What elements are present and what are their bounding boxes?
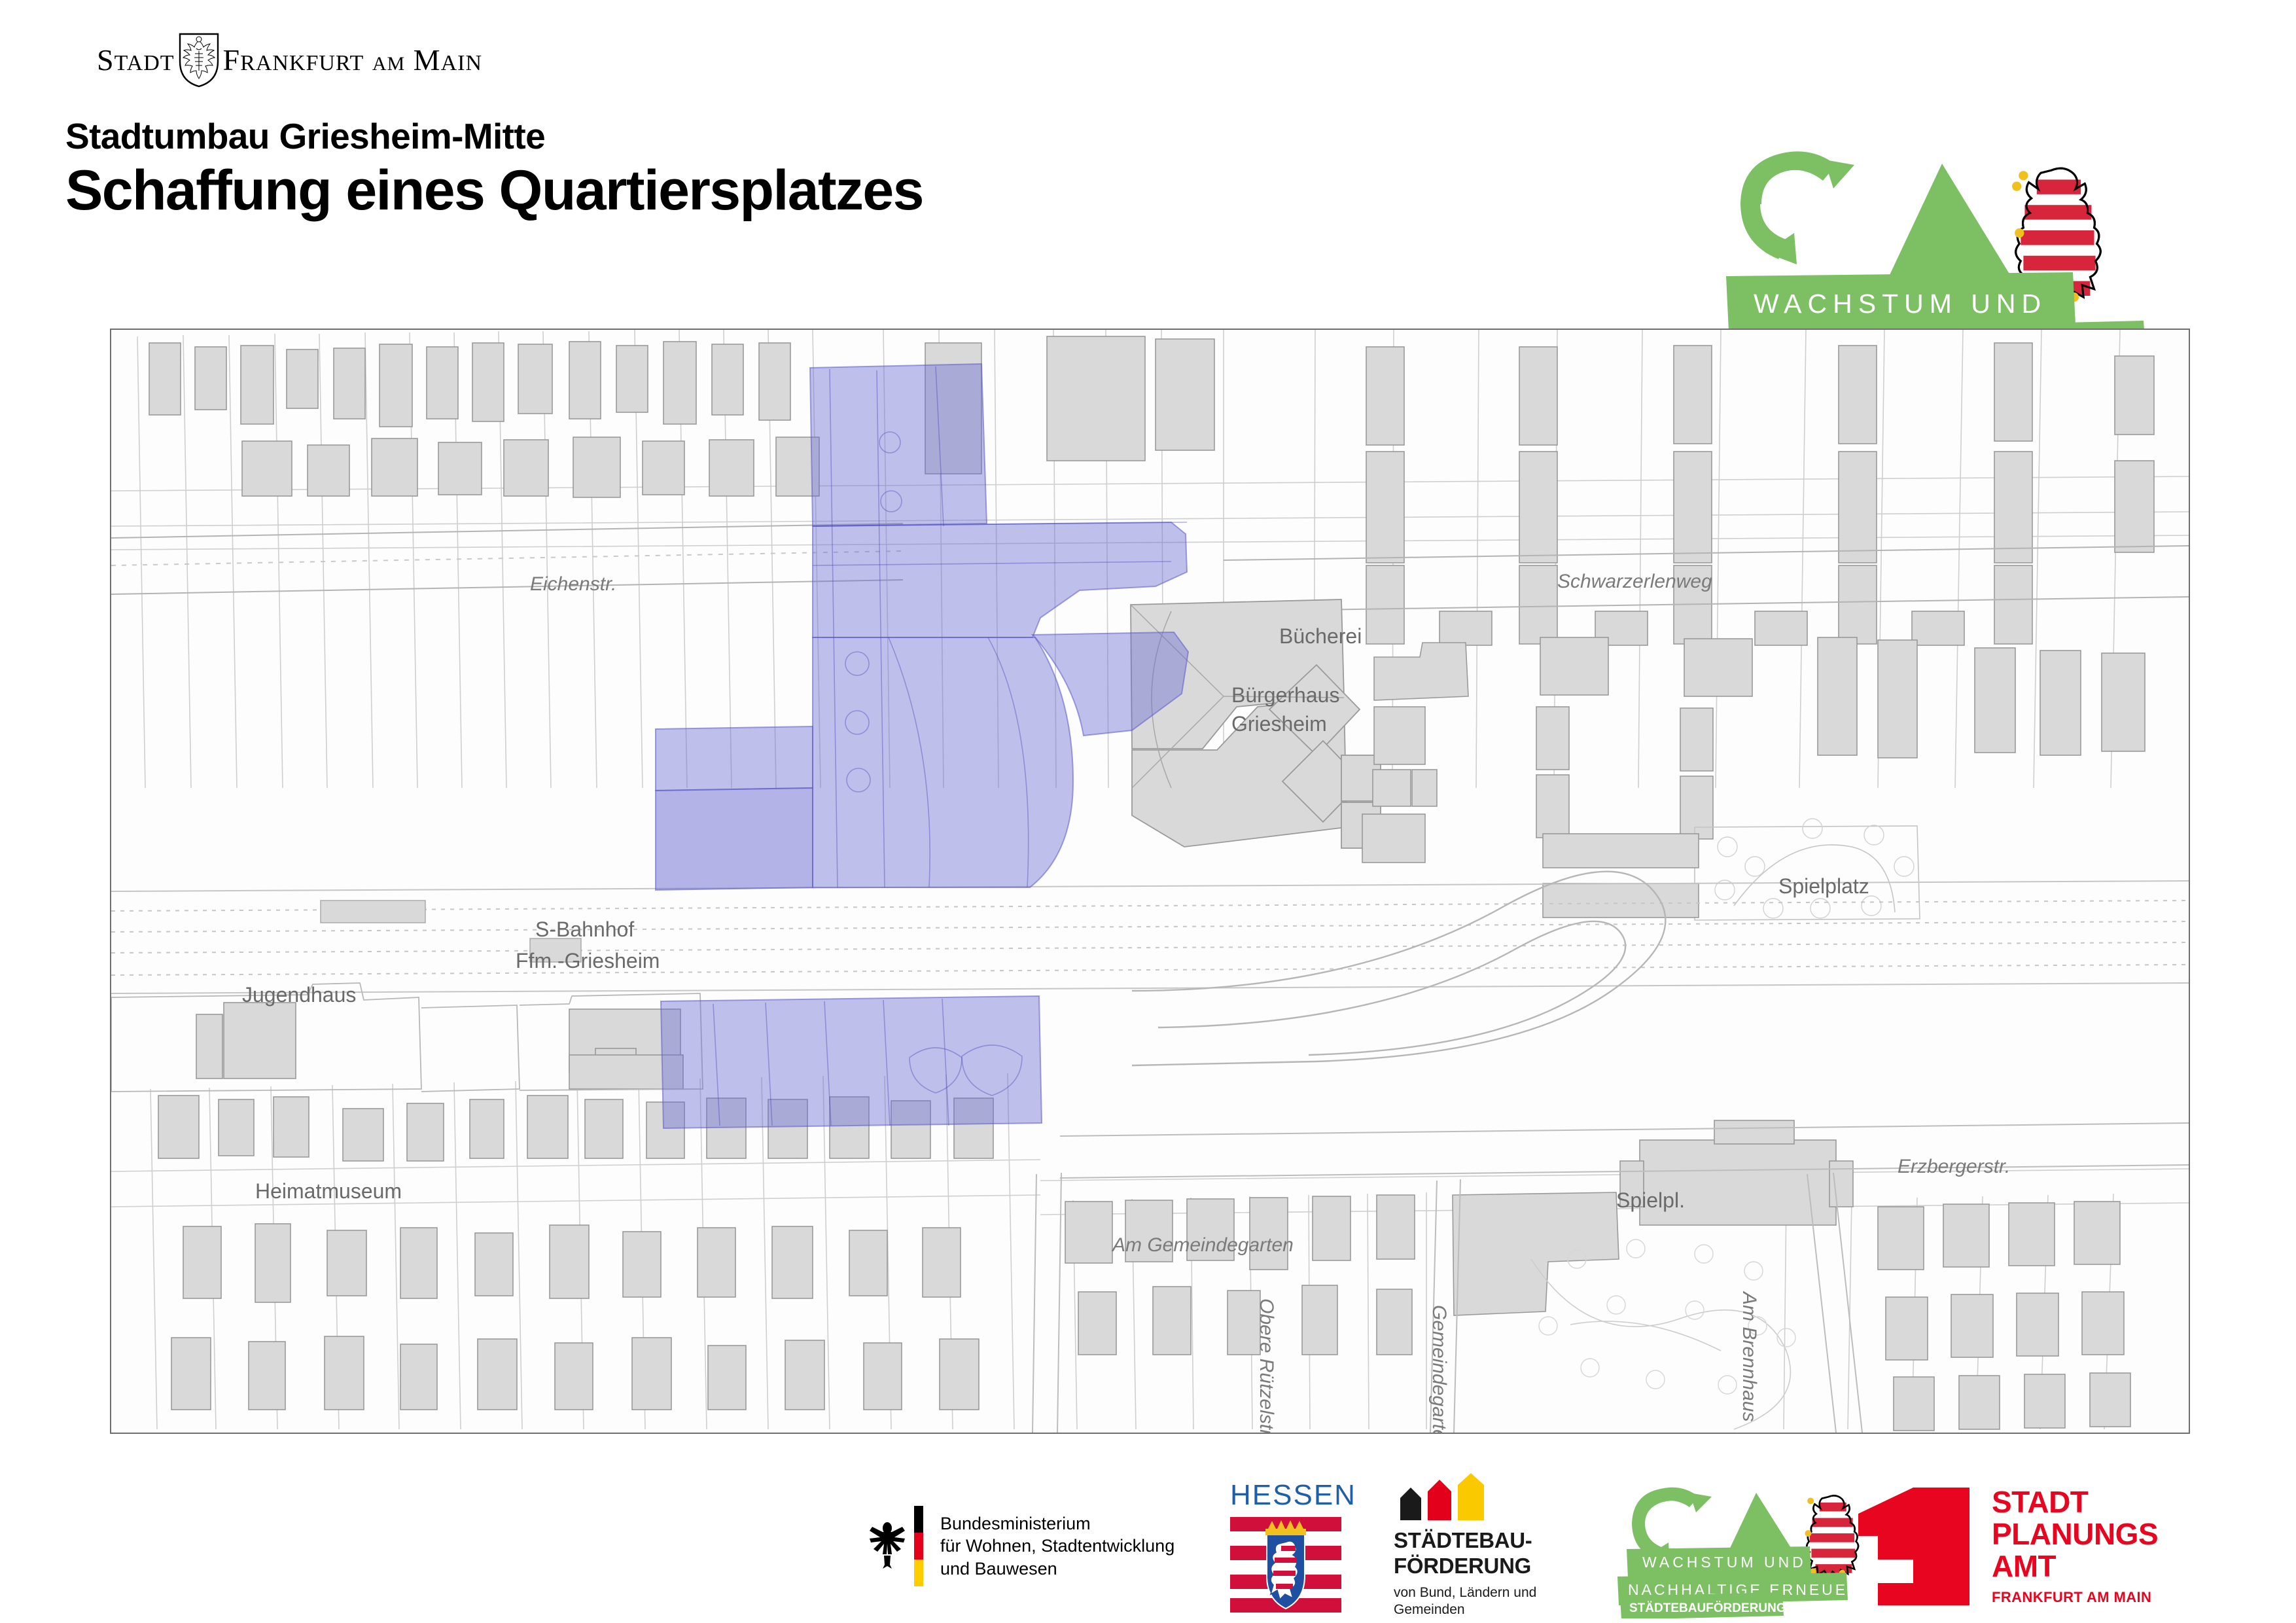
german-flag-bar-icon [914,1506,923,1587]
staedtebaufoerderung-logo: STÄDTEBAU- FÖRDERUNG von Bund, Ländern u… [1394,1469,1536,1623]
page-subtitle: Stadtumbau Griesheim-Mitte [65,118,923,156]
bmwsb-line3: und Bauwesen [940,1558,1174,1580]
title-block: Stadtumbau Griesheim-Mitte Schaffung ein… [65,118,923,219]
city-logo-text-left: STADT [97,45,175,75]
frankfurt-eagle-crest-icon [179,33,219,88]
recycle-arrow-icon [1740,151,1854,264]
spa-line1: STADT [1992,1486,2158,1518]
hessen-lion-icon [1805,1495,1858,1578]
page-footer: Bundesministerium für Wohnen, Stadtentwi… [0,1469,2296,1623]
federal-eagle-icon [867,1514,908,1579]
city-logo-text-right: FRANKFURT AM MAIN [223,45,483,75]
spa-line3: AMT [1992,1550,2158,1582]
spa-sub: FRANKFURT AM MAIN [1992,1589,2158,1606]
stadtplanungsamt-logo: STADT PLANUNGS AMT FRANKFURT AM MAIN [1858,1469,2158,1623]
badge-line1: WACHSTUM UND [1754,289,2047,319]
city-logo: STADT FRANKFURT AM MAIN [97,33,482,88]
hessen-logo: HESSEN [1230,1469,1356,1623]
staedtebau-sub1: von Bund, Ländern und [1394,1584,1536,1601]
wachstum-footer-logo: WACHSTUM UND NACHHALTIGE ERNEUERUNG STÄD… [1616,1469,1878,1623]
staedtebau-line2: FÖRDERUNG [1394,1554,1532,1579]
staedtebau-line1: STÄDTEBAU- [1394,1528,1532,1554]
three-houses-icon [1394,1473,1492,1520]
badge-banner-1: WACHSTUM UND [1726,272,2075,331]
page-header: STADT FRANKFURT AM MAIN Stadtumbau Gries… [0,0,2296,314]
staedtebau-sub2: Gemeinden [1394,1601,1536,1618]
hessen-wordmark: HESSEN [1230,1479,1356,1512]
wachstum-footer-line3: STÄDTEBAUFÖRDERUNG HESSEN [1629,1601,1841,1615]
map-canvas [111,330,2189,1433]
spa-line2: PLANUNGS [1992,1518,2158,1550]
stadtplanungsamt-mark-icon [1858,1488,1969,1605]
bmwsb-line2: für Wohnen, Stadtentwicklung [940,1535,1174,1558]
bmwsb-logo: Bundesministerium für Wohnen, Stadtentwi… [867,1469,1174,1623]
page-title: Schaffung eines Quartiersplatzes [65,162,923,220]
cadastral-map[interactable]: Eichenstr. Schwarzerlenweg Erzbergerstr.… [110,329,2190,1434]
hessen-coat-of-arms-icon [1230,1516,1341,1614]
wachstum-footer-line1: WACHSTUM UND [1642,1554,1807,1571]
bmwsb-line1: Bundesministerium [940,1512,1174,1535]
